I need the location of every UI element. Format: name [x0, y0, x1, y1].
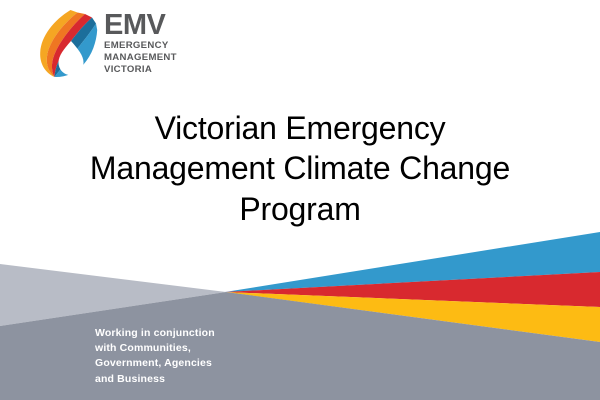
title-line-1: Victorian Emergency — [40, 108, 560, 148]
logo-emv-text: EMV — [104, 12, 177, 39]
title-line-3: Program — [40, 189, 560, 229]
logo-subline-victoria: VICTORIA — [104, 64, 177, 75]
tagline-line-4: and Business — [95, 372, 295, 387]
slide-title: Victorian Emergency Management Climate C… — [40, 108, 560, 229]
tagline-line-3: Government, Agencies — [95, 356, 295, 371]
logo-subline-emergency: EMERGENCY — [104, 40, 177, 51]
tagline-line-2: with Communities, — [95, 341, 295, 356]
slide-tagline: Working in conjunction with Communities,… — [95, 326, 295, 387]
emv-logo: EMV EMERGENCY MANAGEMENT VICTORIA — [38, 6, 188, 82]
emv-wordmark: EMV EMERGENCY MANAGEMENT VICTORIA — [104, 12, 177, 76]
slide-canvas: EMV EMERGENCY MANAGEMENT VICTORIA Victor… — [0, 0, 600, 400]
tagline-line-1: Working in conjunction — [95, 326, 295, 341]
logo-subline-management: MANAGEMENT — [104, 52, 177, 63]
title-line-2: Management Climate Change — [40, 148, 560, 188]
emv-flame-droplet-icon — [38, 8, 98, 80]
